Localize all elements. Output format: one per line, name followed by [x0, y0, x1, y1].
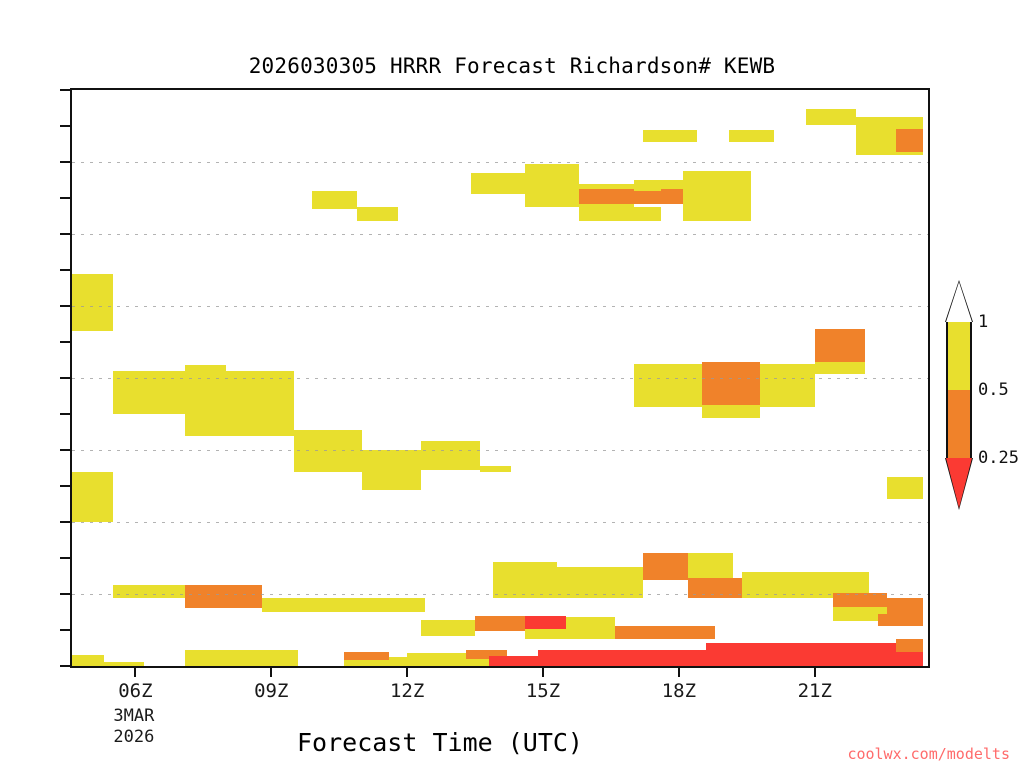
heatmap-cell — [489, 656, 539, 666]
y-axis-tick — [60, 233, 70, 235]
y-axis-tick — [60, 413, 70, 415]
heatmap-cell — [312, 191, 357, 209]
heatmap-cell — [615, 626, 715, 639]
y-axis-tick — [60, 665, 70, 667]
colorbar-bottom-arrow — [946, 458, 972, 508]
y-axis-tick — [60, 593, 70, 595]
heatmap-cell — [887, 598, 923, 616]
heatmap-cell — [579, 189, 661, 203]
x-axis-tick-label: 21Z — [798, 680, 832, 702]
y-axis-tick — [60, 161, 70, 163]
y-axis-tick — [60, 341, 70, 343]
heatmap-cell — [729, 130, 774, 142]
chart-title: 2026030305 HRRR Forecast Richardson# KEW… — [0, 54, 1024, 78]
x-axis-title: Forecast Time (UTC) — [0, 728, 880, 757]
x-axis-tick-label: 18Z — [662, 680, 696, 702]
heatmap-cell — [683, 171, 751, 221]
heatmap-cell — [185, 650, 298, 666]
y-axis-tick — [60, 89, 70, 91]
heatmap-cell — [806, 109, 856, 125]
colorbar-label: 0.25 — [978, 448, 1019, 468]
y-axis-tick — [60, 485, 70, 487]
heatmap-cell — [421, 441, 480, 470]
x-axis-tick-label: 09Z — [254, 680, 288, 702]
heatmap-cell — [113, 585, 185, 597]
heatmap-cell — [896, 129, 923, 152]
colorbar-top-arrow — [946, 282, 972, 322]
heatmap-cell — [493, 562, 556, 598]
heatmap-cell — [357, 207, 398, 221]
chart-canvas: 2026030305 HRRR Forecast Richardson# KEW… — [0, 0, 1024, 768]
heatmap-cell — [72, 662, 144, 667]
heatmap-cell — [887, 477, 923, 499]
gridline-1000 — [72, 666, 928, 667]
heatmap-cell — [815, 362, 865, 374]
heatmap-cell — [643, 130, 697, 142]
y-axis-tick — [60, 377, 70, 379]
x-axis-tick — [134, 668, 136, 677]
heatmap-cell — [72, 472, 113, 522]
x-axis-tick — [270, 668, 272, 677]
heatmap-cell — [702, 405, 761, 417]
colorbar-segment-yellow — [946, 322, 972, 390]
y-axis-tick — [60, 521, 70, 523]
heatmap-cell — [262, 598, 425, 612]
x-axis-tick-label: 12Z — [390, 680, 424, 702]
heatmap-cell — [706, 643, 905, 653]
heatmap-cell — [525, 629, 616, 639]
colorbar-label: 1 — [978, 312, 988, 332]
heatmap-cell — [525, 164, 579, 206]
y-axis-tick — [60, 629, 70, 631]
heatmap-cell — [113, 371, 185, 414]
heatmap-cell — [702, 362, 761, 408]
x-axis-tick-label: 06Z — [118, 680, 152, 702]
heatmap-cell — [480, 466, 512, 472]
heatmap-cell — [475, 616, 525, 632]
heatmap-cell — [421, 620, 475, 636]
heatmap-cell — [896, 639, 923, 652]
x-axis-tick — [678, 668, 680, 677]
plot-area — [70, 88, 930, 668]
heatmap-cell — [688, 553, 733, 580]
y-axis-tick — [60, 449, 70, 451]
heatmap-cell — [344, 652, 389, 661]
colorbar-label: 0.5 — [978, 380, 1009, 400]
y-axis-tick — [60, 125, 70, 127]
heatmap-cells — [72, 90, 928, 666]
credit-watermark: coolwx.com/modelts — [847, 745, 1010, 763]
y-axis-tick — [60, 269, 70, 271]
heatmap-cell — [294, 430, 362, 472]
y-axis-tick — [60, 197, 70, 199]
heatmap-cell — [72, 274, 113, 332]
heatmap-cell — [557, 567, 643, 598]
x-axis-tick — [542, 668, 544, 677]
heatmap-cell — [634, 364, 702, 407]
date-line: 3MAR — [113, 706, 154, 727]
heatmap-cell — [226, 371, 294, 436]
heatmap-cell — [760, 364, 814, 407]
heatmap-cell — [878, 614, 923, 626]
x-axis-tick — [406, 668, 408, 677]
heatmap-cell — [185, 585, 262, 608]
heatmap-cell — [643, 553, 688, 580]
heatmap-cell — [688, 578, 742, 597]
colorbar: 10.50.25 — [946, 322, 972, 458]
heatmap-cell — [362, 450, 421, 490]
heatmap-cell — [815, 329, 865, 365]
y-axis-tick — [60, 305, 70, 307]
heatmap-cell — [615, 207, 660, 221]
heatmap-cell — [185, 365, 226, 436]
colorbar-segment-orange — [946, 390, 972, 458]
x-axis-tick-label: 15Z — [526, 680, 560, 702]
x-axis-tick — [814, 668, 816, 677]
heatmap-cell — [471, 173, 525, 195]
y-axis-tick — [60, 557, 70, 559]
